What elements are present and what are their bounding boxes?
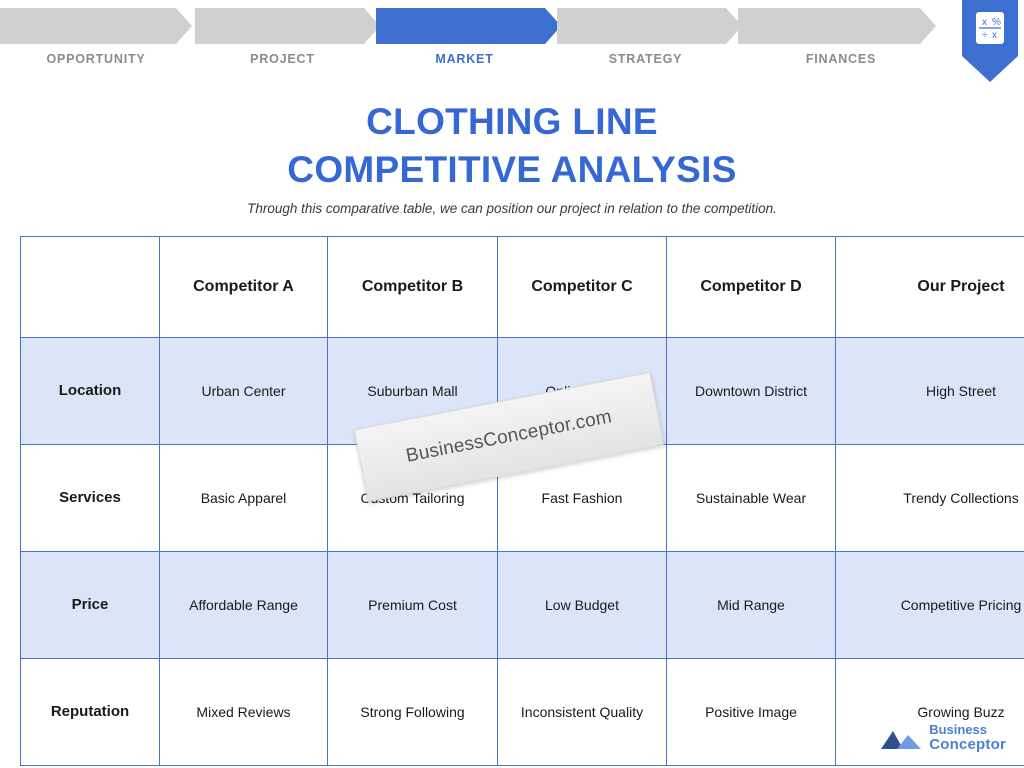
nav-label-market[interactable]: MARKET	[372, 52, 557, 66]
table-header-row: Competitor A Competitor B Competitor C C…	[21, 237, 1024, 338]
nav-label-strategy[interactable]: STRATEGY	[553, 52, 738, 66]
nav-chevron-project[interactable]	[195, 8, 380, 44]
table-header-cell-competitor-d: Competitor D	[667, 237, 836, 338]
nav-chevron-market[interactable]	[376, 8, 561, 44]
table-header-cell-competitor-c: Competitor C	[498, 237, 667, 338]
table-header-cell-competitor-b: Competitor B	[328, 237, 498, 338]
mountain-icon	[879, 725, 923, 751]
competitive-analysis-table: Competitor A Competitor B Competitor C C…	[20, 236, 984, 766]
cell-location-our-project: High Street	[836, 338, 1024, 445]
svg-text:%: %	[992, 17, 1001, 28]
watermark-text: BusinessConceptor.com	[404, 406, 613, 467]
row-label-price: Price	[21, 552, 160, 659]
cell-services-our-project: Trendy Collections	[836, 445, 1024, 552]
cell-reputation-competitor-b: Strong Following	[328, 659, 498, 766]
footer-logo-text: Business Conceptor	[929, 723, 1006, 752]
nav-chevron-finances[interactable]	[738, 8, 936, 44]
cell-reputation-competitor-d: Positive Image	[667, 659, 836, 766]
cell-price-competitor-c: Low Budget	[498, 552, 667, 659]
table-header-cell-corner	[21, 237, 160, 338]
footer-logo: Business Conceptor	[879, 718, 1006, 758]
svg-text:x: x	[982, 17, 987, 28]
cell-price-our-project: Competitive Pricing	[836, 552, 1024, 659]
nav-chevron-strategy[interactable]	[557, 8, 742, 44]
page-title-line2: COMPETITIVE ANALYSIS	[0, 146, 1024, 194]
cell-services-competitor-d: Sustainable Wear	[667, 445, 836, 552]
table-header-cell-competitor-a: Competitor A	[160, 237, 328, 338]
cell-reputation-competitor-a: Mixed Reviews	[160, 659, 328, 766]
cell-location-competitor-a: Urban Center	[160, 338, 328, 445]
nav-label-finances[interactable]: FINANCES	[742, 52, 940, 66]
svg-text:÷: ÷	[982, 30, 988, 41]
page-title-line1: CLOTHING LINE	[0, 98, 1024, 146]
row-label-services: Services	[21, 445, 160, 552]
cell-reputation-competitor-c: Inconsistent Quality	[498, 659, 667, 766]
cell-location-competitor-d: Downtown District	[667, 338, 836, 445]
table-header-cell-our-project: Our Project	[836, 237, 1024, 338]
cell-price-competitor-b: Premium Cost	[328, 552, 498, 659]
footer-logo-line2: Conceptor	[929, 737, 1006, 753]
cell-price-competitor-d: Mid Range	[667, 552, 836, 659]
page-subtitle: Through this comparative table, we can p…	[0, 201, 1024, 216]
table-row-reputation: Reputation Mixed Reviews Strong Followin…	[21, 659, 1024, 766]
row-label-reputation: Reputation	[21, 659, 160, 766]
svg-text:x: x	[992, 30, 997, 41]
row-label-location: Location	[21, 338, 160, 445]
brand-badge-icon: x % ÷ x	[962, 0, 1018, 82]
step-navigation: OPPORTUNITY PROJECT MARKET STRATEGY FINA…	[0, 8, 1024, 78]
nav-chevron-opportunity[interactable]	[0, 8, 192, 44]
nav-label-project[interactable]: PROJECT	[190, 52, 375, 66]
page-title: CLOTHING LINE COMPETITIVE ANALYSIS	[0, 98, 1024, 194]
cell-services-competitor-a: Basic Apparel	[160, 445, 328, 552]
cell-price-competitor-a: Affordable Range	[160, 552, 328, 659]
footer-logo-line1: Business	[929, 723, 1006, 737]
table-row-price: Price Affordable Range Premium Cost Low …	[21, 552, 1024, 659]
nav-label-opportunity[interactable]: OPPORTUNITY	[0, 52, 192, 66]
